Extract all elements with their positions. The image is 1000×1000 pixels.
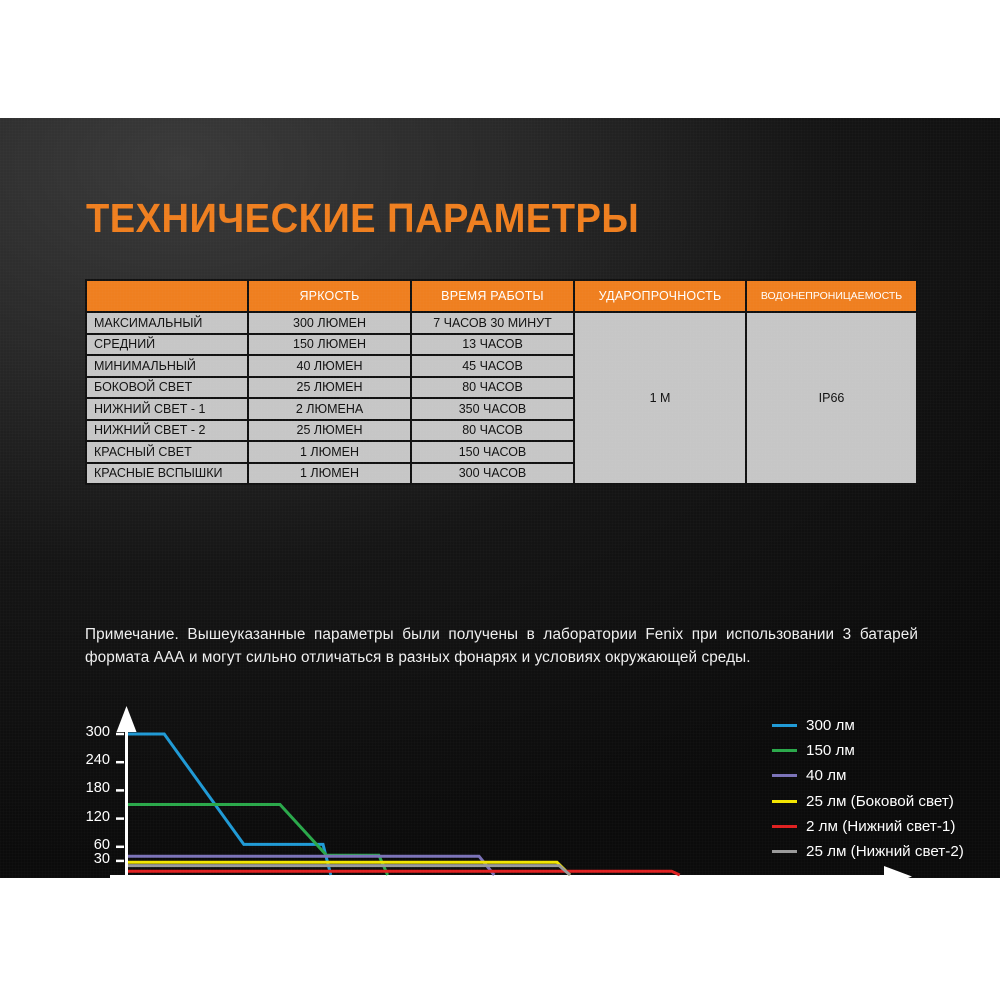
table-header-mode [86, 280, 248, 312]
table-header-impact: УДАРОПРОЧНОСТЬ [574, 280, 746, 312]
cell-runtime: 150 ЧАСОВ [411, 441, 574, 463]
specifications-table: ЯРКОСТЬ ВРЕМЯ РАБОТЫ УДАРОПРОЧНОСТЬ ВОДО… [85, 279, 918, 485]
legend-item: 2 лм (Нижний свет-1) [772, 814, 1000, 839]
table-body: МАКСИМАЛЬНЫЙ 300 ЛЮМЕН 7 ЧАСОВ 30 МИНУТ … [86, 312, 917, 484]
cell-brightness: 1 ЛЮМЕН [248, 463, 411, 485]
chart-series-group [128, 734, 680, 875]
legend-color-swatch [772, 724, 797, 727]
cell-runtime: 13 ЧАСОВ [411, 334, 574, 356]
cell-mode: МАКСИМАЛЬНЫЙ [86, 312, 248, 334]
legend-item: 40 лм [772, 763, 1000, 788]
cell-water-resistance: IP66 [746, 312, 917, 484]
legend-label: 300 лм [806, 717, 855, 734]
legend-label: 150 лм [806, 742, 855, 759]
legend-label: 40 лм [806, 767, 846, 784]
page-title: ТЕХНИЧЕСКИЕ ПАРАМЕТРЫ [86, 195, 639, 242]
cell-mode: НИЖНИЙ СВЕТ - 1 [86, 398, 248, 420]
cell-mode: СРЕДНИЙ [86, 334, 248, 356]
y-tick-label: 120 [54, 809, 110, 825]
y-tick-label: 180 [54, 780, 110, 796]
legend-label: 2 лм (Нижний свет-1) [806, 818, 955, 835]
cell-runtime: 80 ЧАСОВ [411, 377, 574, 399]
table-row: МАКСИМАЛЬНЫЙ 300 ЛЮМЕН 7 ЧАСОВ 30 МИНУТ … [86, 312, 917, 334]
legend-color-swatch [772, 749, 797, 752]
legend-color-swatch [772, 850, 797, 853]
y-axis-ticks [116, 734, 124, 861]
cell-runtime: 80 ЧАСОВ [411, 420, 574, 442]
chart-series-line [128, 871, 680, 875]
legend-item: 25 лм (Нижний свет-2) [772, 839, 1000, 864]
poster-page: ТЕХНИЧЕСКИЕ ПАРАМЕТРЫ ЯРКОСТЬ ВРЕМЯ РАБО… [0, 0, 1000, 1000]
legend-color-swatch [772, 825, 797, 828]
cell-brightness: 150 ЛЮМЕН [248, 334, 411, 356]
table-header-water: ВОДОНЕПРОНИЦАЕМОСТЬ [746, 280, 917, 312]
cell-brightness: 2 ЛЮМЕНА [248, 398, 411, 420]
table-header-row: ЯРКОСТЬ ВРЕМЯ РАБОТЫ УДАРОПРОЧНОСТЬ ВОДО… [86, 280, 917, 312]
y-tick-label: 30 [54, 851, 110, 867]
table-header-brightness: ЯРКОСТЬ [248, 280, 411, 312]
y-axis-arrow-icon [117, 706, 137, 732]
cell-mode: НИЖНИЙ СВЕТ - 2 [86, 420, 248, 442]
cell-impact-resistance: 1 М [574, 312, 746, 484]
cell-brightness: 25 ЛЮМЕН [248, 420, 411, 442]
cell-mode: КРАСНЫЕ ВСПЫШКИ [86, 463, 248, 485]
legend-color-swatch [772, 774, 797, 777]
legend-label: 25 лм (Нижний свет-2) [806, 843, 964, 860]
table-header-runtime: ВРЕМЯ РАБОТЫ [411, 280, 574, 312]
legend-item: 300 лм [772, 713, 1000, 738]
x-axis-arrow-icon [884, 866, 912, 878]
poster-dark-panel: ТЕХНИЧЕСКИЕ ПАРАМЕТРЫ ЯРКОСТЬ ВРЕМЯ РАБО… [0, 118, 1000, 878]
y-tick-label: 300 [54, 724, 110, 740]
cell-mode: КРАСНЫЙ СВЕТ [86, 441, 248, 463]
legend-item: 25 лм (Боковой свет) [772, 789, 1000, 814]
legend-item: 150 лм [772, 738, 1000, 763]
cell-mode: БОКОВОЙ СВЕТ [86, 377, 248, 399]
cell-runtime: 45 ЧАСОВ [411, 355, 574, 377]
cell-brightness: 1 ЛЮМЕН [248, 441, 411, 463]
cell-mode: МИНИМАЛЬНЫЙ [86, 355, 248, 377]
cell-brightness: 300 ЛЮМЕН [248, 312, 411, 334]
chart-legend: 300 лм150 лм40 лм25 лм (Боковой свет)2 л… [772, 713, 1000, 864]
cell-runtime: 7 ЧАСОВ 30 МИНУТ [411, 312, 574, 334]
cell-runtime: 350 ЧАСОВ [411, 398, 574, 420]
legend-color-swatch [772, 800, 797, 803]
legend-label: 25 лм (Боковой свет) [806, 793, 954, 810]
cell-brightness: 25 ЛЮМЕН [248, 377, 411, 399]
y-tick-label: 240 [54, 752, 110, 768]
cell-runtime: 300 ЧАСОВ [411, 463, 574, 485]
cell-brightness: 40 ЛЮМЕН [248, 355, 411, 377]
